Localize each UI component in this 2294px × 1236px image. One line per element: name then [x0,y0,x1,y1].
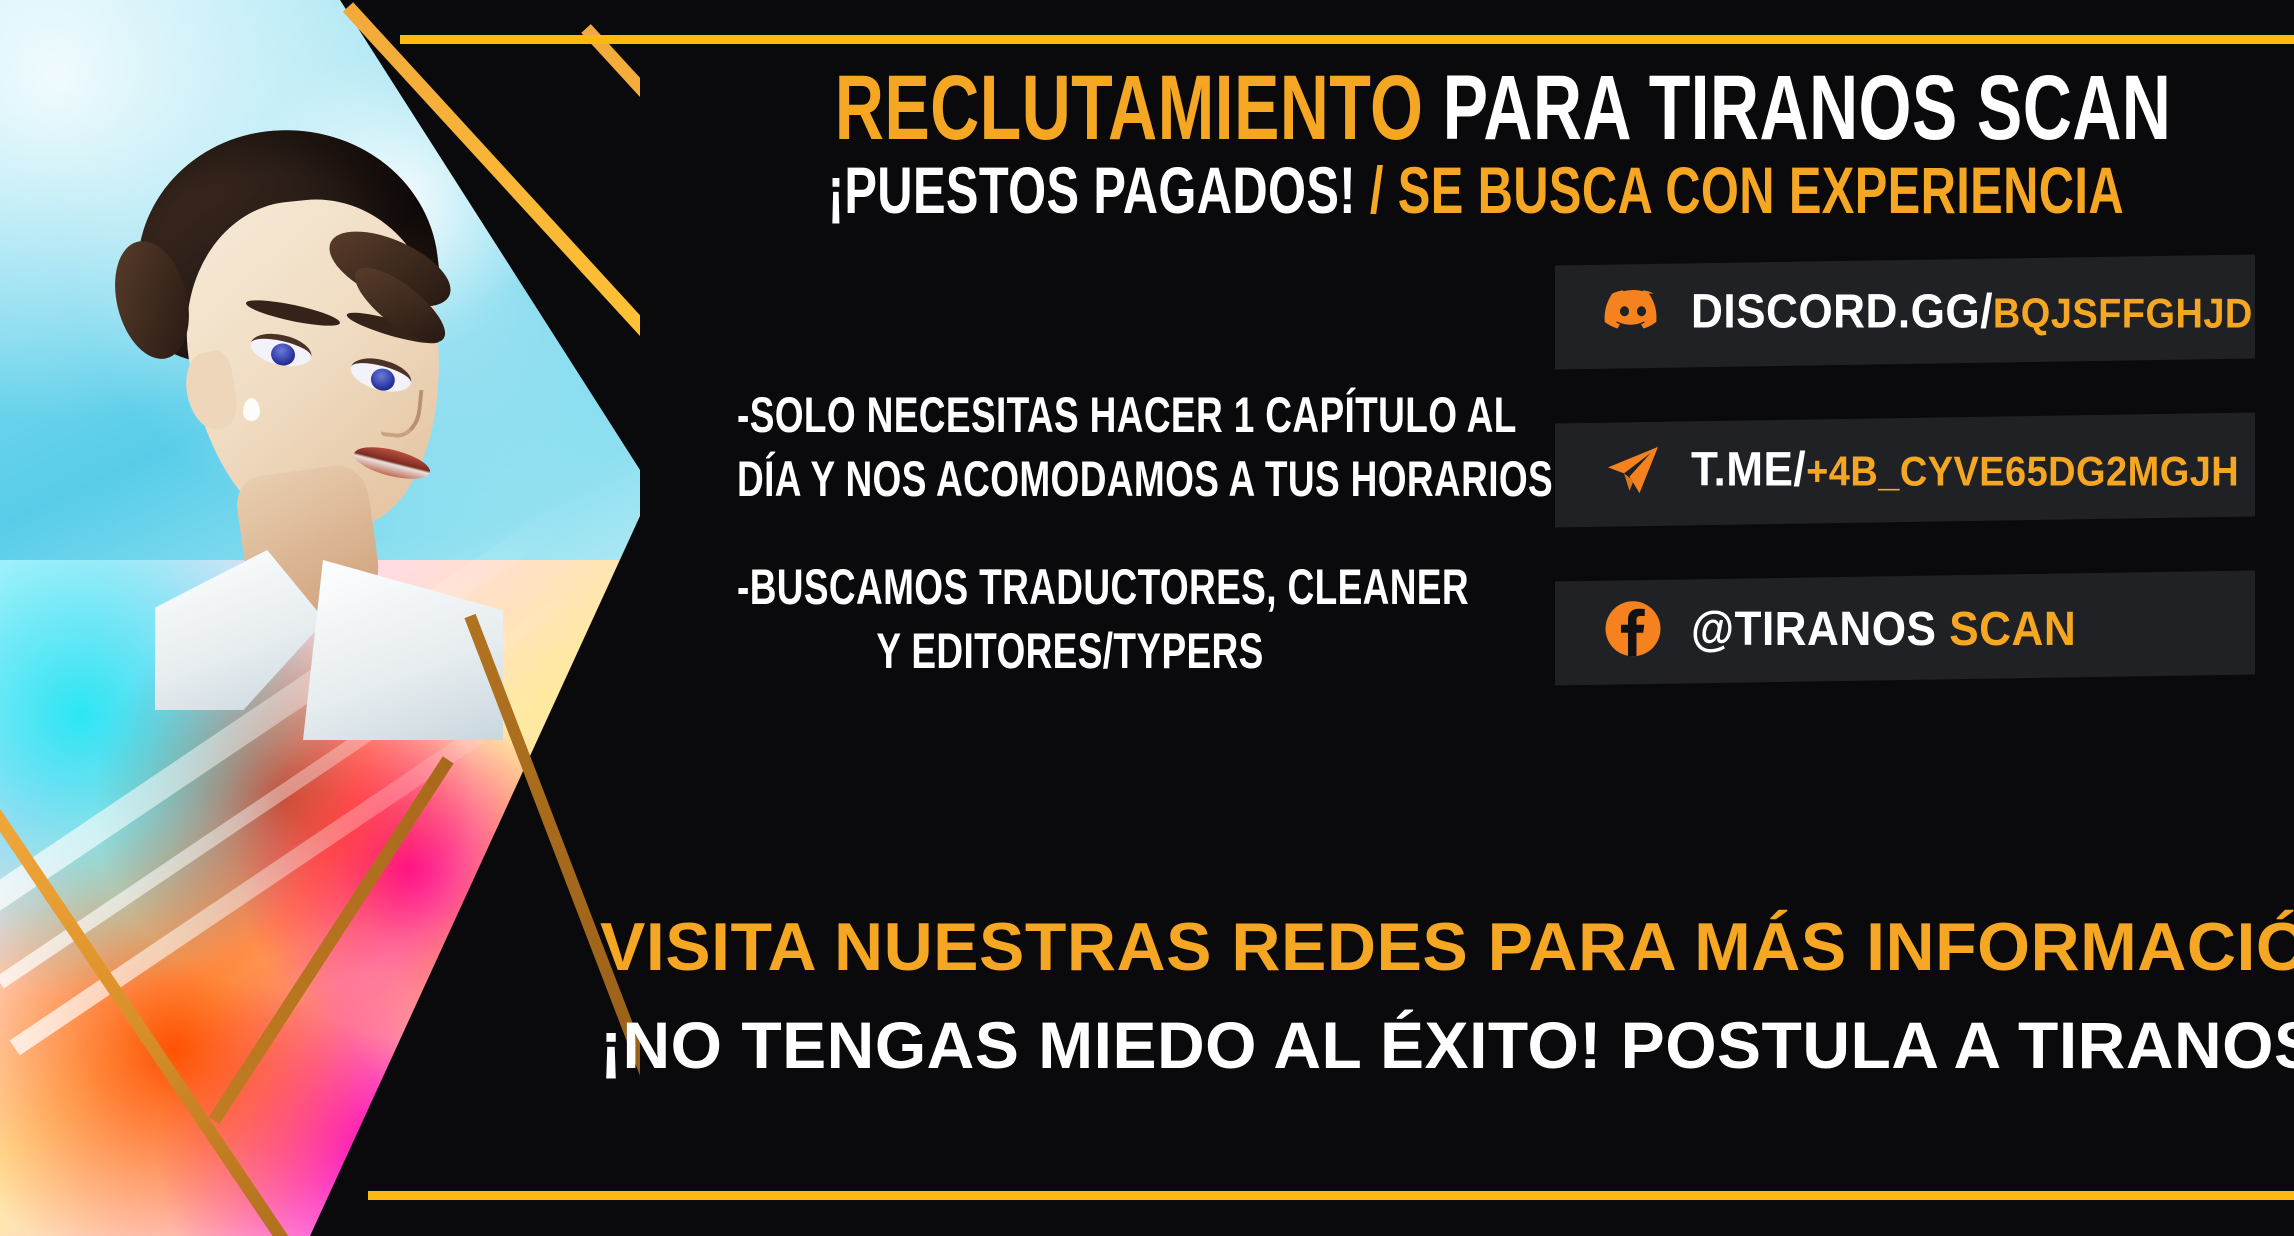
telegram-card-label: T.ME/+4B_CYVE65DG2MGJH [1691,442,2239,497]
bullet-line: -SOLO NECESITAS HACER 1 CAPÍTULO AL [737,383,1403,447]
telegram-card[interactable]: T.ME/+4B_CYVE65DG2MGJH [1555,413,2255,528]
bullet-list: -SOLO NECESITAS HACER 1 CAPÍTULO AL DÍA … [620,383,1520,727]
telegram-domain: T.ME/ [1691,443,1806,496]
subheadline: ¡PUESTOS PAGADOS! / SE BUSCA CON EXPERIE… [600,152,2294,228]
footer-line-1: VISITA NUESTRAS REDES PARA MÁS INFORMACI… [600,909,2294,985]
facebook-card[interactable]: @TIRANOS SCAN [1555,571,2255,686]
discord-icon [1601,279,1665,343]
telegram-icon [1601,437,1665,501]
top-gold-rule [400,35,2294,44]
discord-domain: DISCORD.GG/ [1691,285,1993,338]
discord-card-label: DISCORD.GG/BQJSFFGHJD [1691,284,2253,339]
footer-line-2: ¡NO TENGAS MIEDO AL ÉXITO! POSTULA A TIR… [600,1008,2294,1082]
subheadline-orange-part: / SE BUSCA CON EXPERIENCIA [1370,153,2124,227]
telegram-card-inner: T.ME/+4B_CYVE65DG2MGJH [1601,437,2287,501]
character-shirt-collar [303,560,503,740]
subheadline-white-part: ¡PUESTOS PAGADOS! [828,153,1356,227]
bullet-line: Y EDITORES/TYPERS [737,619,1403,683]
artwork-character [95,120,525,680]
facebook-handle-scan: SCAN [1949,602,2076,655]
contact-cards: DISCORD.GG/BQJSFFGHJD T.ME/+4B_CYVE65DG2… [1555,260,2255,734]
headline: RECLUTAMIENTO PARA TIRANOS SCAN [600,58,2294,158]
facebook-handle: @TIRANOS [1691,602,1936,655]
footer-line-1-wrap: VISITA NUESTRAS REDES PARA MÁS INFORMACI… [600,905,2294,989]
footer-text: VISITA NUESTRAS REDES PARA MÁS INFORMACI… [600,905,2294,1087]
facebook-handle-suffix [1936,602,1949,655]
headline-white-part: PARA TIRANOS SCAN [1443,57,2172,159]
facebook-card-label: @TIRANOS SCAN [1691,601,2076,656]
facebook-card-inner: @TIRANOS SCAN [1601,597,2110,661]
bullet-item: -SOLO NECESITAS HACER 1 CAPÍTULO AL DÍA … [620,383,1520,511]
facebook-icon [1601,597,1665,661]
bullet-line: DÍA Y NOS ACOMODAMOS A TUS HORARIOS [737,447,1403,511]
footer-line-2-wrap: ¡NO TENGAS MIEDO AL ÉXITO! POSTULA A TIR… [600,1003,2294,1087]
bottom-gold-rule [368,1191,2294,1200]
recruitment-banner: RECLUTAMIENTO PARA TIRANOS SCAN ¡PUESTOS… [0,0,2294,1236]
character-sweat-drop [243,398,260,421]
telegram-invite-code: +4B_CYVE65DG2MGJH [1806,448,2239,494]
discord-invite-code: BQJSFFGHJD [1993,290,2253,336]
content-area: RECLUTAMIENTO PARA TIRANOS SCAN ¡PUESTOS… [600,0,2294,1236]
artwork-panel [0,0,640,1236]
discord-card-inner: DISCORD.GG/BQJSFFGHJD [1601,279,2294,343]
discord-card[interactable]: DISCORD.GG/BQJSFFGHJD [1555,255,2255,370]
bullet-line: -BUSCAMOS TRADUCTORES, CLEANER [737,555,1403,619]
bullet-item: -BUSCAMOS TRADUCTORES, CLEANER Y EDITORE… [620,555,1520,683]
headline-orange-part: RECLUTAMIENTO [835,57,1424,159]
